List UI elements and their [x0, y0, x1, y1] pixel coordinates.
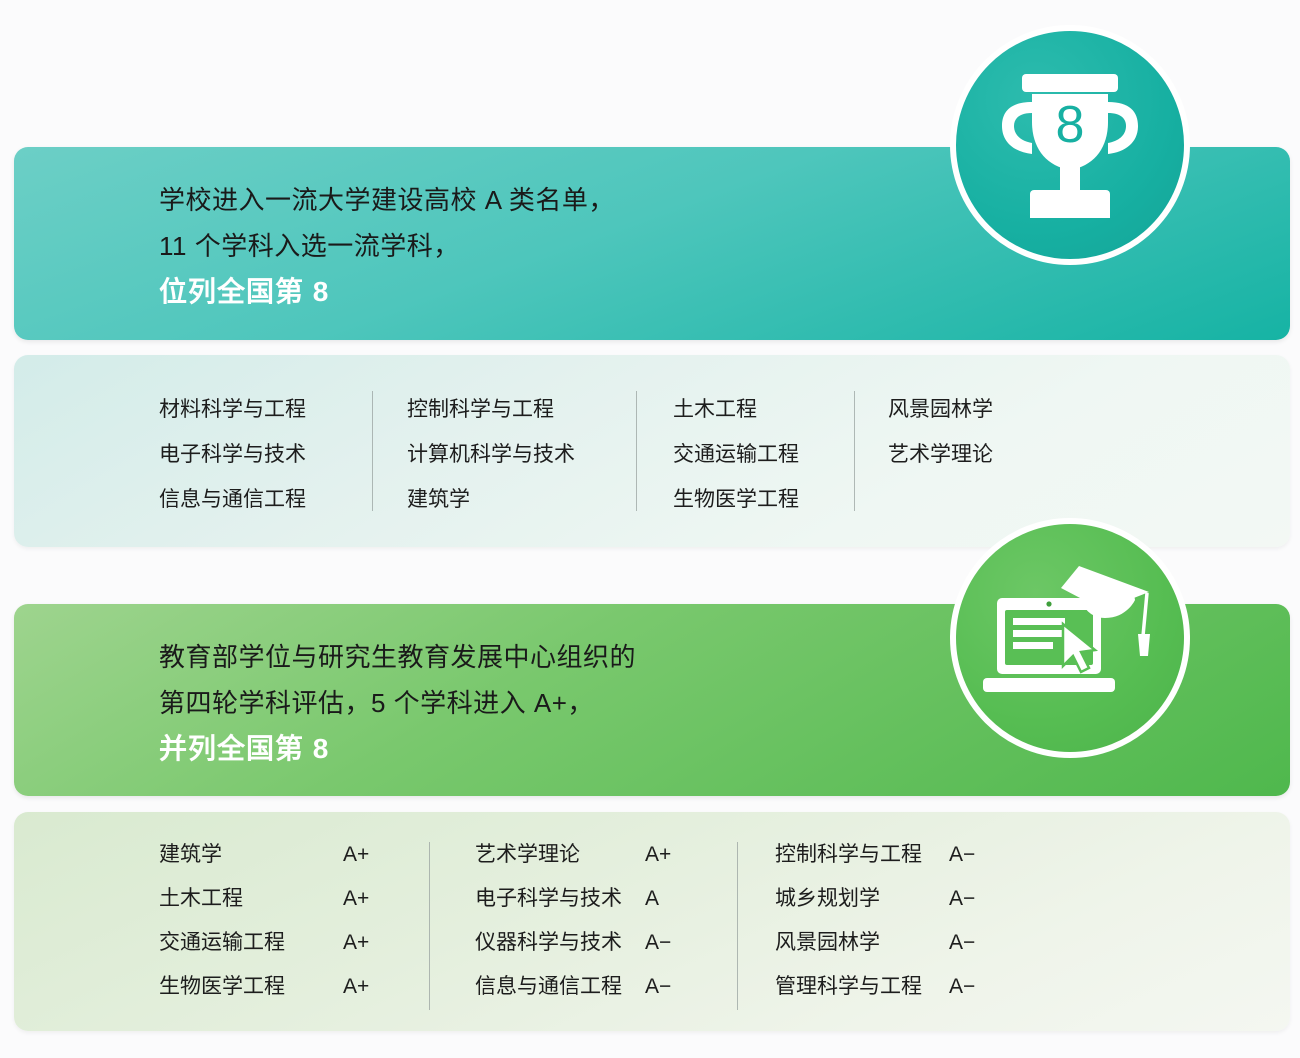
discipline-item: 计算机科学与技术 [407, 432, 575, 477]
discipline-column-2: 控制科学与工程 计算机科学与技术 建筑学 [407, 387, 575, 522]
hero-emphasis-rank: 并列全国第 8 [159, 726, 636, 772]
discipline-item: 控制科学与工程 [407, 387, 575, 432]
discipline-item: 艺术学理论 [888, 432, 993, 477]
hero-emphasis-rank: 位列全国第 8 [159, 269, 615, 315]
grade-value: A− [949, 975, 975, 999]
discipline-item: 生物医学工程 [673, 477, 799, 522]
discipline-item: 电子科学与技术 [159, 432, 306, 477]
grade-row: 信息与通信工程 A− [475, 970, 671, 1014]
graduation-laptop-icon [983, 558, 1158, 718]
column-divider [636, 391, 637, 511]
grade-value: A− [949, 931, 975, 955]
grade-discipline-name: 交通运输工程 [159, 926, 343, 956]
grade-row: 生物医学工程 A+ [159, 970, 369, 1014]
column-divider [372, 391, 373, 511]
discipline-column-3: 土木工程 交通运输工程 生物医学工程 [673, 387, 799, 522]
grade-row: 仪器科学与技术 A− [475, 926, 671, 970]
grade-value: A− [949, 843, 975, 867]
discipline-column-4: 风景园林学 艺术学理论 [888, 387, 993, 477]
grade-value: A [645, 887, 659, 911]
discipline-item: 信息与通信工程 [159, 477, 306, 522]
grade-column-2: 艺术学理论 A+ 电子科学与技术 A 仪器科学与技术 A− 信息与通信工程 A− [475, 838, 671, 1014]
grade-row: 城乡规划学 A− [775, 882, 975, 926]
grade-row: 交通运输工程 A+ [159, 926, 369, 970]
column-divider [429, 842, 430, 1010]
grade-value: A− [645, 931, 671, 955]
grade-discipline-name: 仪器科学与技术 [475, 926, 645, 956]
grade-discipline-name: 风景园林学 [775, 926, 949, 956]
grade-discipline-name: 管理科学与工程 [775, 970, 949, 1000]
trophy-badge: 8 [950, 25, 1190, 265]
discipline-evaluation-hero-text: 教育部学位与研究生教育发展中心组织的 第四轮学科评估，5 个学科进入 A+， 并… [159, 634, 636, 772]
hero-line-2: 第四轮学科评估，5 个学科进入 A+， [159, 680, 636, 726]
grade-value: A− [949, 887, 975, 911]
grade-value: A+ [343, 975, 369, 999]
discipline-grade-list-panel: 建筑学 A+ 土木工程 A+ 交通运输工程 A+ 生物医学工程 A+ [14, 812, 1290, 1031]
grade-column-3: 控制科学与工程 A− 城乡规划学 A− 风景园林学 A− 管理科学与工程 A− [775, 838, 975, 1014]
grade-discipline-name: 土木工程 [159, 882, 343, 912]
grade-value: A+ [343, 931, 369, 955]
grade-columns: 建筑学 A+ 土木工程 A+ 交通运输工程 A+ 生物医学工程 A+ [14, 812, 1290, 1031]
grade-value: A+ [645, 843, 671, 867]
discipline-item: 风景园林学 [888, 387, 993, 432]
double-first-class-hero-text: 学校进入一流大学建设高校 A 类名单， 11 个学科入选一流学科， 位列全国第 … [159, 177, 615, 315]
grade-discipline-name: 艺术学理论 [475, 838, 645, 868]
grade-row: 风景园林学 A− [775, 926, 975, 970]
discipline-item: 交通运输工程 [673, 432, 799, 477]
column-divider [737, 842, 738, 1010]
grade-row: 艺术学理论 A+ [475, 838, 671, 882]
grade-discipline-name: 城乡规划学 [775, 882, 949, 912]
infographic-stage: 学校进入一流大学建设高校 A 类名单， 11 个学科入选一流学科， 位列全国第 … [0, 0, 1300, 1058]
grade-value: A+ [343, 843, 369, 867]
grade-discipline-name: 信息与通信工程 [475, 970, 645, 1000]
grade-discipline-name: 电子科学与技术 [475, 882, 645, 912]
discipline-item: 土木工程 [673, 387, 799, 432]
trophy-rank-number: 8 [1056, 96, 1085, 154]
discipline-item: 材料科学与工程 [159, 387, 306, 432]
grade-row: 土木工程 A+ [159, 882, 369, 926]
grade-discipline-name: 建筑学 [159, 838, 343, 868]
hero-line-1: 教育部学位与研究生教育发展中心组织的 [159, 634, 636, 680]
grade-value: A+ [343, 887, 369, 911]
grade-value: A− [645, 975, 671, 999]
first-class-discipline-list-panel: 材料科学与工程 电子科学与技术 信息与通信工程 控制科学与工程 计算机科学与技术… [14, 355, 1290, 547]
discipline-columns: 材料科学与工程 电子科学与技术 信息与通信工程 控制科学与工程 计算机科学与技术… [14, 355, 1290, 547]
grade-column-1: 建筑学 A+ 土木工程 A+ 交通运输工程 A+ 生物医学工程 A+ [159, 838, 369, 1014]
hero-line-2: 11 个学科入选一流学科， [159, 223, 615, 269]
grade-row: 建筑学 A+ [159, 838, 369, 882]
hero-line-1: 学校进入一流大学建设高校 A 类名单， [159, 177, 615, 223]
grade-row: 控制科学与工程 A− [775, 838, 975, 882]
discipline-column-1: 材料科学与工程 电子科学与技术 信息与通信工程 [159, 387, 306, 522]
discipline-item: 建筑学 [407, 477, 575, 522]
trophy-icon: 8 [990, 60, 1150, 230]
grade-row: 电子科学与技术 A [475, 882, 671, 926]
grade-row: 管理科学与工程 A− [775, 970, 975, 1014]
graduation-badge [950, 518, 1190, 758]
grade-discipline-name: 生物医学工程 [159, 970, 343, 1000]
column-divider [854, 391, 855, 511]
grade-discipline-name: 控制科学与工程 [775, 838, 949, 868]
